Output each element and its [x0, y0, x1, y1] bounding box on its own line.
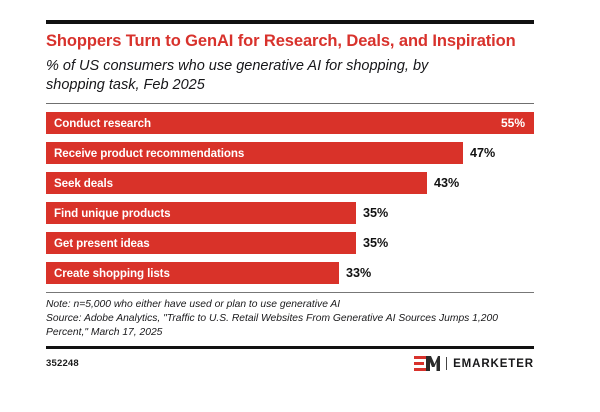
bar-row: Receive product recommendations 47% — [46, 142, 534, 164]
bar-value-label: 43% — [434, 176, 459, 190]
bar-category-label: Get present ideas — [54, 237, 150, 250]
chart-subtitle: % of US consumers who use generative AI … — [46, 57, 476, 94]
bar-row: Seek deals 43% — [46, 172, 534, 194]
logo-divider — [446, 357, 448, 370]
chart-inner: Shoppers Turn to GenAI for Research, Dea… — [46, 20, 534, 371]
bar-value-label: 35% — [363, 236, 388, 250]
bar-category-label: Find unique products — [54, 207, 171, 220]
bar-seek-deals: Seek deals — [46, 172, 427, 194]
logo-wordmark: EMARKETER — [453, 358, 534, 370]
page-title: Shoppers Turn to GenAI for Research, Dea… — [46, 31, 516, 51]
bar-get-present-ideas: Get present ideas — [46, 232, 356, 254]
top-rule — [46, 20, 534, 24]
em-monogram-icon — [414, 356, 440, 371]
bar-row: Create shopping lists 33% — [46, 262, 534, 284]
bar-value-label: 33% — [346, 266, 371, 280]
bar-create-shopping-lists: Create shopping lists — [46, 262, 339, 284]
subtitle-divider — [46, 103, 534, 104]
bar-chart: Conduct research 55% Receive product rec… — [46, 112, 534, 284]
bar-value-label: 55% — [501, 116, 525, 130]
bar-value-label: 35% — [363, 206, 388, 220]
bar-row: Get present ideas 35% — [46, 232, 534, 254]
bar-conduct-research: Conduct research 55% — [46, 112, 534, 134]
chart-footer: 352248 EMARKETER — [46, 356, 534, 371]
bar-category-label: Conduct research — [54, 117, 151, 130]
chart-footnotes: Note: n=5,000 who either have used or pl… — [46, 298, 516, 340]
bar-value-label: 47% — [470, 146, 495, 160]
bar-row: Conduct research 55% — [46, 112, 534, 134]
chart-card: Shoppers Turn to GenAI for Research, Dea… — [0, 0, 600, 412]
bar-category-label: Receive product recommendations — [54, 147, 244, 160]
source-text: Source: Adobe Analytics, "Traffic to U.S… — [46, 312, 516, 340]
bar-row: Find unique products 35% — [46, 202, 534, 224]
bar-category-label: Seek deals — [54, 177, 113, 190]
bar-find-unique-products: Find unique products — [46, 202, 356, 224]
bar-receive-product-recommendations: Receive product recommendations — [46, 142, 463, 164]
bottom-rule — [46, 346, 534, 349]
notes-divider — [46, 292, 534, 293]
bar-category-label: Create shopping lists — [54, 267, 170, 280]
figure-id: 352248 — [46, 358, 79, 369]
note-text: Note: n=5,000 who either have used or pl… — [46, 298, 516, 312]
emarketer-logo: EMARKETER — [414, 356, 534, 371]
